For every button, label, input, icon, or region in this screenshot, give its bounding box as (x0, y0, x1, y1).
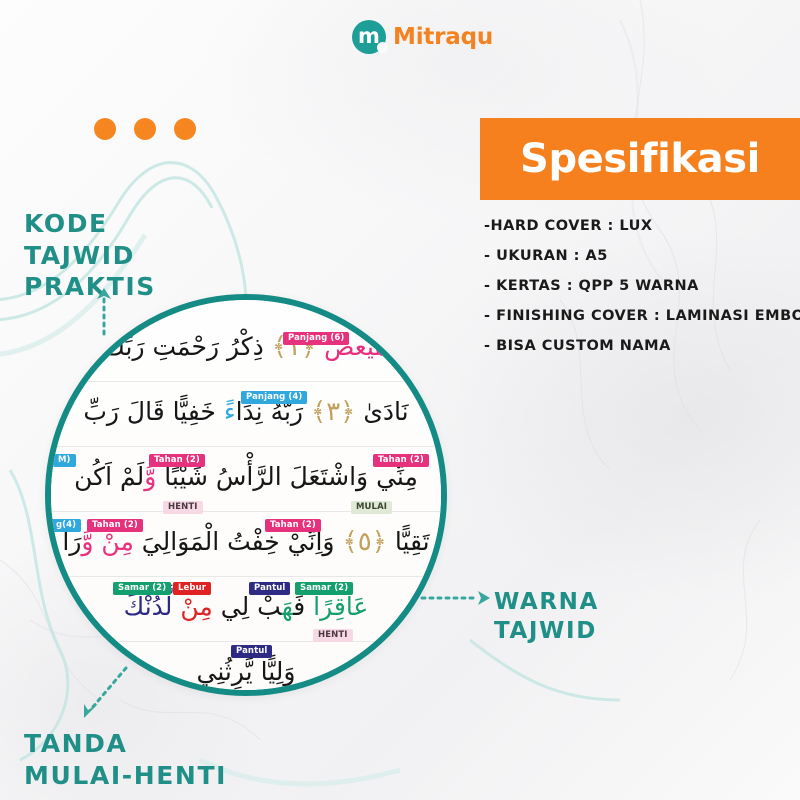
page-title: Spesifikasi (520, 136, 760, 182)
callout-line: MULAI-HENTI (24, 760, 227, 792)
spec-item: - UKURAN : A5 (484, 248, 800, 264)
quran-ayah-text: تَقِيًّا ﴿٥﴾ وَاِنِّيْ خِفْتُ الْمَوَالِ… (45, 529, 447, 555)
quran-ayah-text: هيعص ﴿١﴾ ذِكْرُ رَحْمَتِ رَبِّكَ (45, 334, 447, 360)
callout-line: TANDA (24, 728, 227, 760)
spesifikasi-list: -HARD COVER : LUX - UKURAN : A5 - KERTAS… (484, 218, 800, 368)
tajwid-tag: Samar (2) (295, 582, 353, 595)
tajwid-tag: Tahan (2) (373, 454, 429, 467)
callout-tanda-mulai-henti: TANDA MULAI-HENTI (24, 728, 227, 791)
quran-ayah-line: نَادَىٰ ﴿٣﴾ رَبَّهُ نِدَاءً خَفِيًّا قَا… (45, 383, 447, 447)
quran-ayah-line: عَاقِرًا فَهَبْ لِي مِنْ لَّدُنْكَSamar … (45, 578, 447, 642)
tajwid-tag: HENTI (313, 629, 353, 642)
tajwid-tag: Lebur (173, 582, 211, 595)
callout-line: WARNA (494, 588, 599, 617)
tajwid-tag: M) (53, 454, 76, 467)
quran-ayah-line: وَلِيًّا يَّرِثُنِيHENTIPantul (45, 643, 447, 696)
callout-line: TAJWID (494, 617, 599, 646)
logo-circle-icon: m (352, 20, 386, 54)
callout-line: TAJWID (24, 240, 156, 272)
callout-kode-tajwid-praktis: KODE TAJWID PRAKTIS (24, 208, 156, 303)
tajwid-tag: Panjang (4) (241, 391, 307, 404)
tajwid-tag: Tahan (2) (149, 454, 205, 467)
brand-logo: m Mitraqu (352, 20, 493, 54)
tajwid-tag: Pantul (231, 645, 272, 658)
tajwid-tag: g(4) (51, 519, 81, 532)
callout-line: KODE (24, 208, 156, 240)
logo-wordmark: Mitraqu (393, 24, 493, 50)
orange-dot (134, 118, 156, 140)
spec-item: - BISA CUSTOM NAMA (484, 338, 800, 354)
quran-ayah-text: مِنِّي وَاشْتَعَلَ الرَّأْسُ شَيْبًا وَّ… (45, 464, 447, 489)
spec-item: -HARD COVER : LUX (484, 218, 800, 234)
orange-dot (94, 118, 116, 140)
spec-item: - KERTAS : QPP 5 WARNA (484, 278, 800, 294)
tajwid-tag: Panjang (6) (283, 332, 349, 345)
tajwid-tag: MULAI (351, 501, 392, 514)
tajwid-tag: Tahan (2) (87, 519, 143, 532)
callout-line: PRAKTIS (24, 271, 156, 303)
spesifikasi-header-banner: Spesifikasi (480, 118, 800, 200)
tajwid-tag: Tahan (2) (265, 519, 321, 532)
quran-ayah-line: تَقِيًّا ﴿٥﴾ وَاِنِّيْ خِفْتُ الْمَوَالِ… (45, 513, 447, 577)
poster-canvas: m Mitraqu KODE TAJWID PRAKTIS TANDA MULA… (0, 0, 800, 800)
orange-dot (174, 118, 196, 140)
tajwid-tag: Samar (2) (113, 582, 171, 595)
tajwid-tag: HENTI (163, 501, 203, 514)
quran-page-circle-photo: هيعص ﴿١﴾ ذِكْرُ رَحْمَتِ رَبِّكَPanjang … (45, 294, 447, 696)
quran-ayah-text: وَلِيًّا يَّرِثُنِي (45, 659, 447, 684)
orange-dots-decoration (94, 118, 196, 140)
spec-item: - FINISHING COVER : LAMINASI EMBOSS (484, 308, 800, 324)
tajwid-tag: Pantul (249, 582, 290, 595)
quran-ayah-text: عَاقِرًا فَهَبْ لِي مِنْ لَّدُنْكَ (45, 594, 447, 619)
callout-warna-tajwid: WARNA TAJWID (494, 588, 599, 646)
quran-page-lines: هيعص ﴿١﴾ ذِكْرُ رَحْمَتِ رَبِّكَPanjang … (51, 300, 441, 690)
logo-letter: m (358, 26, 380, 47)
quran-ayah-line: هيعص ﴿١﴾ ذِكْرُ رَحْمَتِ رَبِّكَPanjang … (45, 318, 447, 382)
